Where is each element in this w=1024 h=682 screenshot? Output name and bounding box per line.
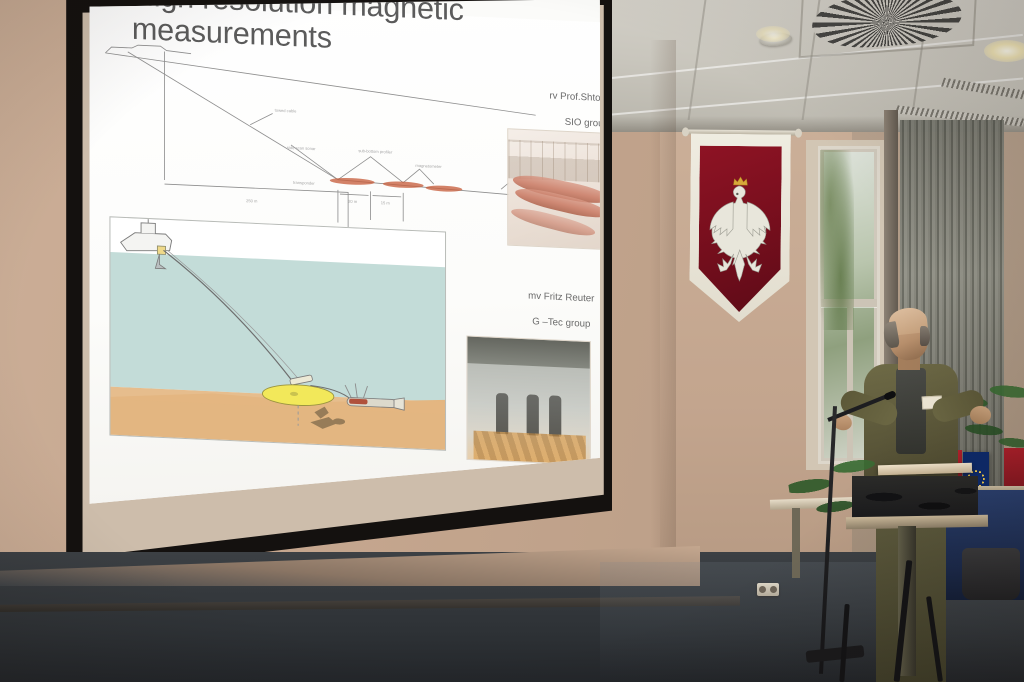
towed-array-layout-schematic: towed cable side scan sonar sub-bottom p…	[97, 26, 536, 245]
ceiling-tile-seam	[688, 0, 707, 120]
survey-cross-section-diagram	[109, 216, 446, 451]
svg-text:sub-bottom profiler: sub-bottom profiler	[358, 148, 393, 155]
projection-screen: High resolution magnetic measurements	[64, 0, 612, 578]
slide-caption-bottom: mv Fritz Reuter G –Tec group	[495, 276, 600, 347]
projected-slide: High resolution magnetic measurements	[87, 0, 600, 509]
crew-figure	[549, 395, 561, 436]
deck-gantry	[467, 337, 589, 369]
presenter-shirt	[896, 368, 926, 454]
crew-figure	[496, 393, 508, 434]
svg-text:towed cable: towed cable	[275, 108, 297, 114]
lectern-shelf	[846, 515, 988, 529]
caption-top-line-1: rv Prof.Shtokman	[526, 89, 600, 108]
ceiling-light	[756, 26, 790, 42]
crew-figure	[527, 394, 539, 435]
svg-text:20 m: 20 m	[348, 199, 358, 204]
svg-text:15 m: 15 m	[381, 200, 391, 205]
polish-eagle-icon	[703, 171, 776, 292]
svg-text:magnetometer: magnetometer	[415, 163, 442, 169]
svg-text:250 m: 250 m	[246, 198, 258, 204]
polish-coat-of-arms-banner	[689, 129, 791, 322]
deck-equipment	[474, 431, 586, 465]
ceiling-light	[984, 40, 1024, 62]
svg-text:transponder: transponder	[293, 180, 315, 186]
presenter-hair	[920, 326, 930, 346]
presenter-right-hand	[970, 406, 991, 424]
towfish-on-deck-photo	[507, 128, 600, 250]
banner-cloth	[689, 133, 791, 322]
presentation-room-photo: High resolution magnetic measurements	[0, 0, 1024, 682]
outdoor-foliage	[820, 150, 854, 330]
screen-surface: High resolution magnetic measurements	[87, 0, 600, 509]
caption-bottom-line-2: G –Tec group	[495, 315, 600, 334]
svg-text:side scan sonar: side scan sonar	[287, 145, 316, 151]
wall-socket-icon	[757, 583, 779, 596]
caption-bottom-line-1: mv Fritz Reuter	[495, 289, 600, 308]
crew-deployment-photo	[466, 336, 590, 466]
